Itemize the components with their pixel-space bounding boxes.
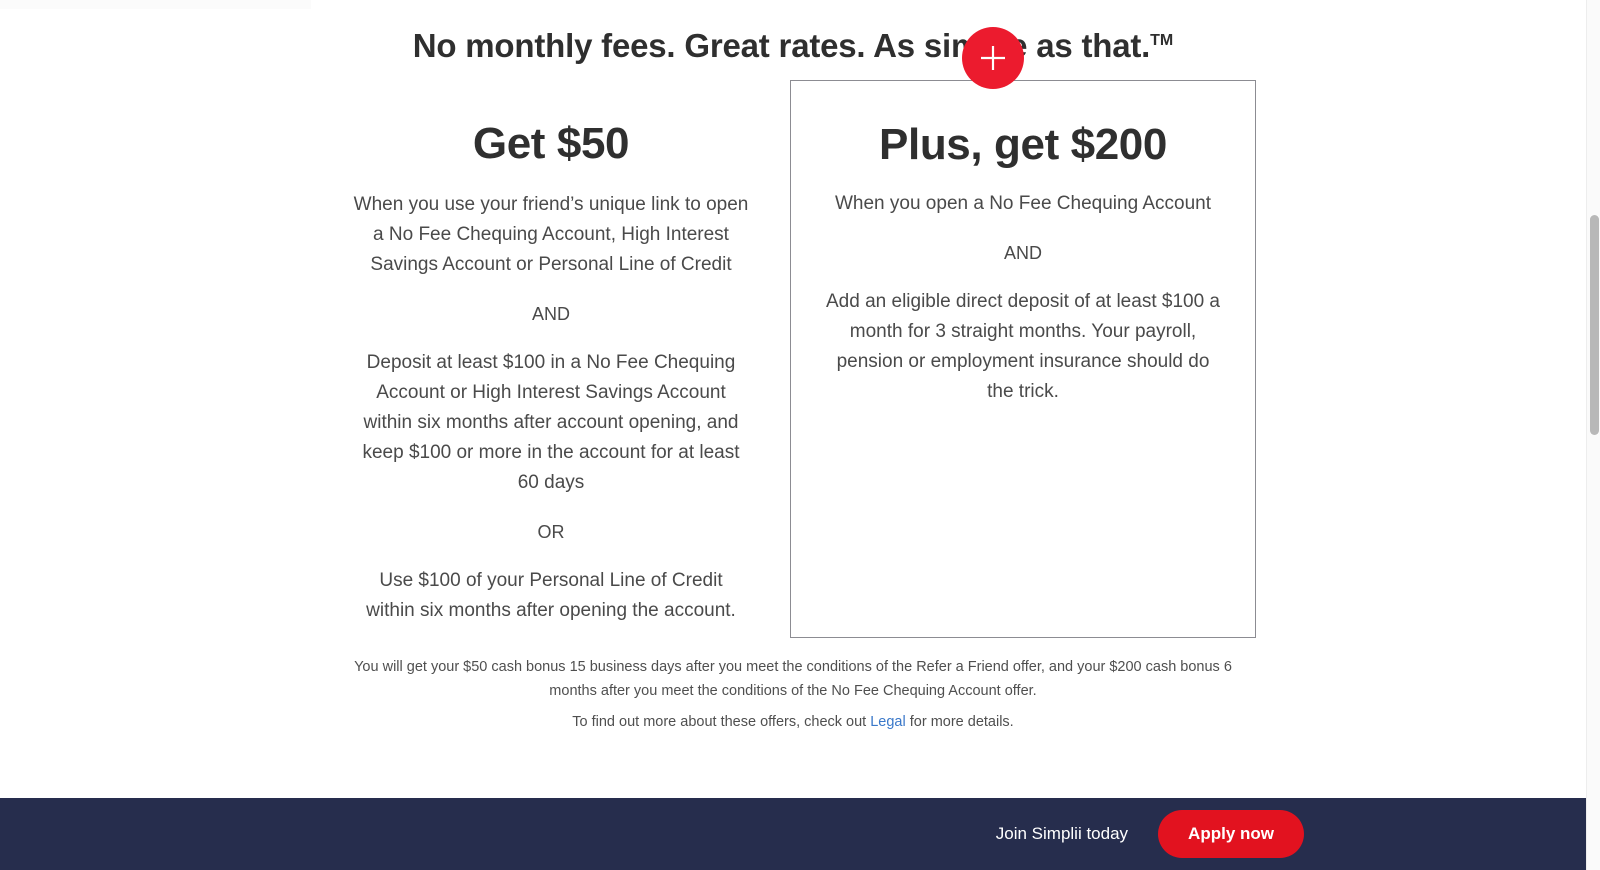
top-edge-band xyxy=(0,0,311,9)
offers-section: Get $50 When you use your friend’s uniqu… xyxy=(0,60,1586,660)
trademark-mark: TM xyxy=(1150,32,1173,49)
footer-tagline: Join Simplii today xyxy=(996,824,1128,844)
left-card-paragraph-2: Deposit at least $100 in a No Fee Chequi… xyxy=(353,348,749,498)
left-card-paragraph-1: When you use your friend’s unique link t… xyxy=(353,190,749,280)
headline-text: No monthly fees. Great rates. As simple … xyxy=(413,27,1150,64)
right-card-paragraph-1: When you open a No Fee Chequing Account xyxy=(823,189,1223,219)
fineprint-paragraph: You will get your $50 cash bonus 15 busi… xyxy=(353,655,1233,703)
right-card-conjunction-1: AND xyxy=(791,238,1255,268)
offer-card-no-fee-chequing: Plus, get $200 When you open a No Fee Ch… xyxy=(790,80,1256,638)
sticky-footer-bar: Join Simplii today Apply now xyxy=(0,798,1586,870)
left-card-title: Get $50 xyxy=(318,116,784,172)
right-card-paragraph-2: Add an eligible direct deposit of at lea… xyxy=(823,287,1223,407)
plus-icon xyxy=(962,27,1024,89)
vertical-scrollbar[interactable] xyxy=(1586,0,1600,870)
left-card-conjunction-2: OR xyxy=(318,517,784,547)
fineprint-legal-line: To find out more about these offers, che… xyxy=(0,710,1586,734)
right-card-title: Plus, get $200 xyxy=(791,117,1255,173)
apply-now-button[interactable]: Apply now xyxy=(1158,810,1304,858)
offer-card-refer-a-friend: Get $50 When you use your friend’s uniqu… xyxy=(318,80,784,638)
fineprint-section: You will get your $50 cash bonus 15 busi… xyxy=(0,655,1586,734)
page-content: No monthly fees. Great rates. As simple … xyxy=(0,0,1586,870)
left-card-paragraph-3: Use $100 of your Personal Line of Credit… xyxy=(353,566,749,626)
legal-prefix-text: To find out more about these offers, che… xyxy=(572,714,870,730)
scrollbar-thumb[interactable] xyxy=(1590,215,1599,435)
legal-suffix-text: for more details. xyxy=(906,714,1014,730)
left-card-conjunction-1: AND xyxy=(318,299,784,329)
legal-link[interactable]: Legal xyxy=(870,714,905,730)
